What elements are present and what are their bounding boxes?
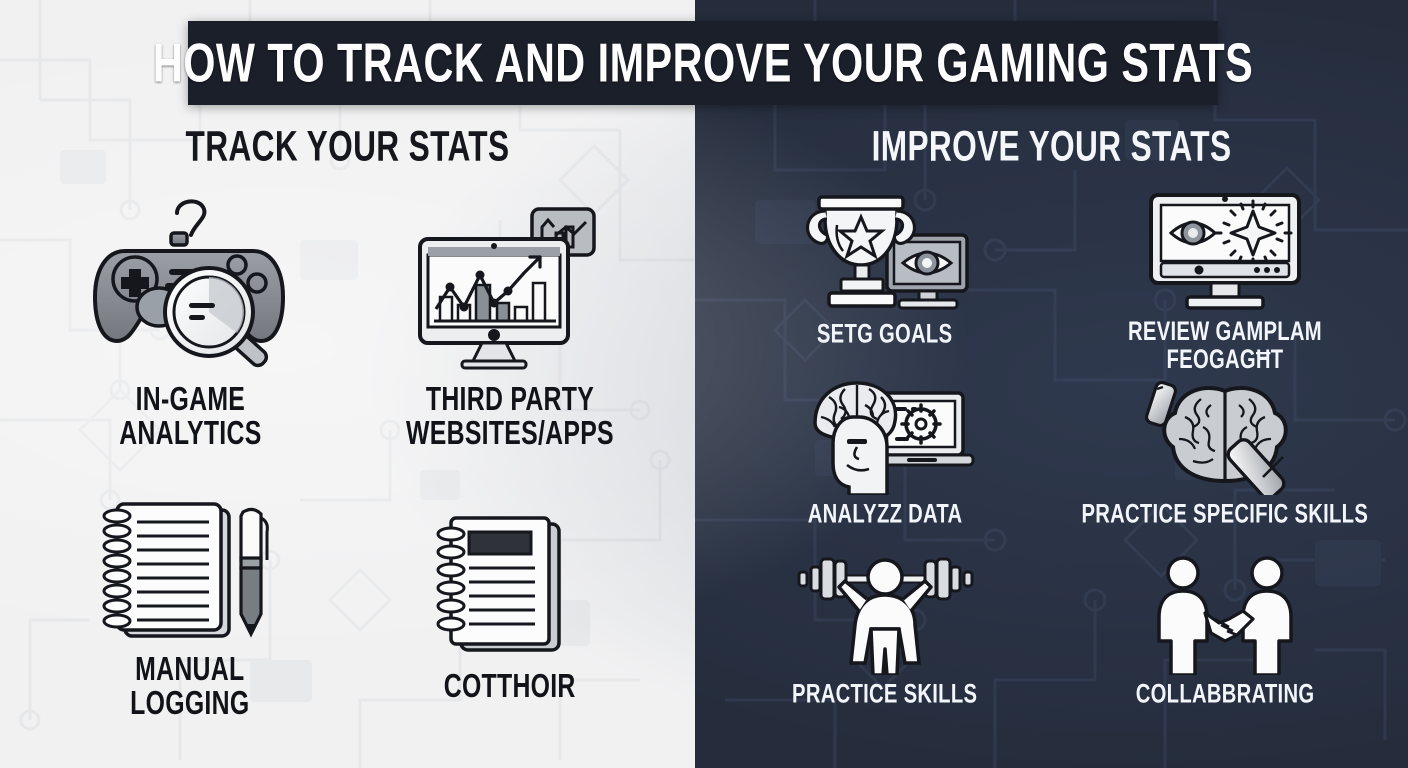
item-label: REVIEW GAMPLAM FEOGAGĦT <box>1069 318 1382 374</box>
item-review-gamplam-feogaght[interactable]: REVIEW GAMPLAM FEOGAGĦT <box>1055 190 1395 370</box>
item-label: ANALYZZ DATA <box>808 500 963 528</box>
item-label: THIRD PARTY WEBSITES/APPS <box>406 382 614 451</box>
item-practice-skills[interactable]: PRACTICE SKILLS <box>715 550 1055 730</box>
item-label: MANUAL LOGGING <box>130 652 249 721</box>
item-third-party-websites-apps[interactable]: THIRD PARTY WEBSITES/APPS <box>350 180 670 460</box>
monitor-chart-icon <box>410 196 610 376</box>
item-label: SETG GOALS <box>817 320 952 348</box>
brain-dumbbell-icon <box>1135 370 1315 495</box>
item-collabbrating[interactable]: COLLABBRATING <box>1055 550 1395 730</box>
item-label: COLLABBRATING <box>1136 680 1315 708</box>
item-practice-specific-skills[interactable]: PRACTICE SPECIFIC SKILLS <box>1055 370 1395 550</box>
item-analyzz-data[interactable]: ANALYZZ DATA <box>715 370 1055 550</box>
item-label: PRACTICE SKILLS <box>792 680 977 708</box>
brain-head-laptop-gear-icon <box>795 370 975 495</box>
track-your-stats-grid: IN-GAME ANALYTICS <box>30 180 670 740</box>
item-label: IN-GAME ANALYTICS <box>119 382 261 451</box>
page-title: HOW TO TRACK AND IMPROVE YOUR GAMING STA… <box>153 31 1253 94</box>
notepad-icon <box>425 500 595 660</box>
title-bar: HOW TO TRACK AND IMPROVE YOUR GAMING STA… <box>188 21 1218 105</box>
notebook-pen-icon <box>95 486 285 646</box>
item-label: COTTHOIR <box>444 669 576 703</box>
item-manual-logging[interactable]: MANUAL LOGGING <box>30 460 350 740</box>
trophy-monitor-eye-icon <box>795 190 975 315</box>
gamepad-magnifier-icon <box>85 196 295 376</box>
left-column-heading: TRACK YOUR STATS <box>24 123 670 172</box>
right-column-heading: IMPROVE YOUR STATS <box>720 123 1383 172</box>
weightlifter-icon <box>793 550 978 675</box>
improve-your-stats-grid: SETG GOALS <box>715 190 1395 730</box>
item-in-game-analytics[interactable]: IN-GAME ANALYTICS <box>30 180 350 460</box>
item-label: PRACTICE SPECIFIC SKILLS <box>1082 500 1369 528</box>
item-cotthoir[interactable]: COTTHOIR <box>350 460 670 740</box>
infographic-canvas: HOW TO TRACK AND IMPROVE YOUR GAMING STA… <box>0 0 1408 768</box>
monitor-eye-sparkle-icon <box>1137 190 1313 315</box>
item-setg-goals[interactable]: SETG GOALS <box>715 190 1055 370</box>
handshake-icon <box>1135 550 1315 675</box>
